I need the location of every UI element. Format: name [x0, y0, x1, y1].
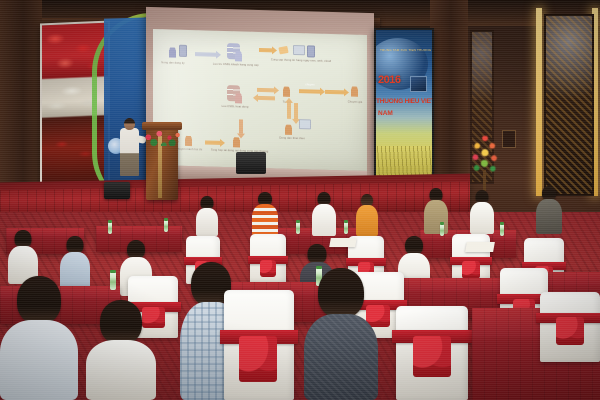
audience-head	[100, 300, 142, 344]
conference-hall-photo: Nong dan dang ky Luu tru CSDL khach hang…	[0, 0, 600, 400]
slide-mobile-icon	[307, 45, 315, 57]
flower-stand-leg	[483, 170, 486, 192]
stage-floor-monitor	[104, 182, 130, 199]
audience-torso	[312, 204, 336, 236]
water-bottle	[440, 224, 444, 236]
slide-node-label-n7: Dong dan thiet thiet	[271, 136, 313, 140]
seated-audience	[424, 188, 448, 234]
audience-head	[308, 244, 327, 264]
slide-phone-icon	[179, 45, 187, 57]
projection-screen-surface: Nong dan dang ky Luu tru CSDL khach hang…	[153, 29, 367, 171]
slide-person-icon-n1	[169, 47, 176, 57]
podium-flower-arrangement	[140, 124, 186, 146]
water-bottle	[108, 222, 112, 234]
slide-person-icon-n2	[235, 51, 242, 61]
slide-arrow-2	[259, 48, 273, 52]
water-bottle	[500, 224, 504, 236]
slide-node-label-n6: Chuyen gia	[339, 100, 367, 104]
slide-node-label-n4: Luu CSDL hoat dong	[215, 105, 255, 109]
audience-head	[318, 268, 364, 318]
audience-torso	[304, 314, 378, 400]
seated-audience	[304, 268, 378, 400]
white-chair-cover-with-red-sash	[224, 290, 294, 400]
document-on-table	[465, 242, 495, 252]
slide-arrow-9	[239, 119, 243, 133]
slide-tablet-icon-2	[299, 119, 311, 129]
slide-arrow-6	[325, 90, 345, 95]
seated-audience	[196, 196, 218, 236]
audience-torso	[86, 340, 156, 400]
framed-wall-picture	[502, 130, 516, 148]
slide-arrow-3	[257, 88, 275, 93]
presenter-head	[124, 118, 135, 130]
audience-torso	[470, 202, 494, 234]
seated-audience	[536, 186, 562, 234]
slide-arrow-label-1: chuyen	[299, 83, 321, 87]
white-chair-cover-with-red-sash	[250, 234, 286, 284]
slide-person-icon-n6	[351, 87, 358, 97]
seated-audience	[470, 190, 494, 234]
audience-torso	[0, 320, 78, 400]
slide-arrow-8	[294, 103, 298, 119]
slide-person-icon-n9	[185, 136, 192, 146]
wall-column-right	[430, 0, 468, 200]
audience-torso	[356, 205, 378, 236]
seated-audience	[312, 192, 336, 236]
slide-arrow-1	[195, 52, 217, 57]
slide-node-label-n1: Nong dan dang ky	[155, 61, 191, 65]
backlit-wall-panel	[544, 14, 594, 196]
audience-torso	[196, 208, 218, 236]
congratulatory-flower-stand	[468, 136, 502, 192]
slide-node-label-n3: Cung cap thong tin hang ngay sms, web, c…	[267, 58, 335, 63]
seated-audience	[356, 194, 378, 236]
white-chair-cover-with-red-sash	[540, 292, 600, 362]
seated-audience	[252, 192, 278, 236]
document-on-table	[329, 238, 357, 247]
slide-arrow-5	[299, 89, 321, 94]
slide-person-icon-n8	[233, 137, 240, 147]
slide-node-label-n2: Luu tru CSDL khach hang cung cap	[213, 63, 257, 68]
slide-person-icon-n7	[285, 125, 292, 135]
audience-torso	[424, 200, 448, 234]
slide-document-icon	[278, 46, 288, 55]
audience-head	[17, 276, 61, 324]
water-bottle	[344, 222, 348, 234]
audience-torso	[536, 199, 562, 234]
white-chair-cover-with-red-sash	[396, 306, 468, 400]
slide-person-icon-n5	[283, 87, 290, 97]
water-bottle	[110, 272, 116, 290]
seated-audience	[86, 300, 156, 400]
water-bottle	[296, 222, 300, 234]
slide-arrow-7	[287, 103, 291, 119]
wall-panel-glow-left	[536, 8, 542, 196]
slide-person-icon-n4	[235, 93, 242, 103]
water-bottle	[164, 220, 168, 232]
event-banner: TRUNG TAM XUC TIEN THUONG MAI 2016 THUON…	[374, 28, 434, 194]
banner-top-text: TRUNG TAM XUC TIEN THUONG MAI	[380, 48, 428, 52]
banner-year: 2016	[378, 74, 400, 86]
audience-torso	[252, 204, 278, 236]
stage-speaker-cabinet	[236, 152, 266, 174]
banner-photo-inset	[410, 76, 427, 92]
banner-sub-text: NAM	[378, 110, 393, 117]
slide-arrow-10	[205, 140, 221, 144]
slide-tablet-icon	[293, 45, 305, 55]
seated-audience	[0, 276, 78, 400]
banner-main-text: THUONG HIEU VIET	[376, 98, 434, 105]
flower-stand-blooms	[470, 136, 500, 174]
